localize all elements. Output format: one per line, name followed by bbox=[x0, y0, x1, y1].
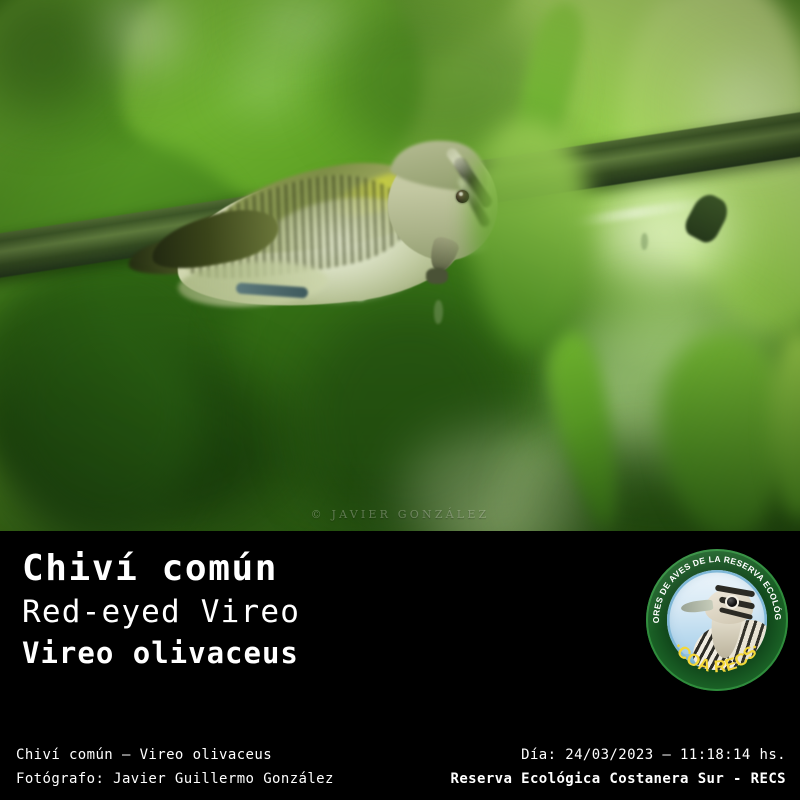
coa-recs-logo: CLUB DE OBSERVADORES DE AVES DE LA RESER… bbox=[646, 549, 788, 691]
footer-location-line: Reserva Ecológica Costanera Sur - RECS bbox=[451, 767, 787, 791]
footer-date-line: Día: 24/03/2023 — 11:18:14 hs. bbox=[451, 743, 787, 767]
bird-eye-glint bbox=[459, 192, 463, 196]
footer-right-block: Día: 24/03/2023 — 11:18:14 hs. Reserva E… bbox=[451, 743, 787, 791]
scientific-name-title: Vireo olivaceus bbox=[22, 633, 300, 673]
bird-foot bbox=[426, 268, 448, 284]
bird-id-card: © JAVIER GONZÁLEZ Chiví común Red-eyed V… bbox=[0, 0, 800, 800]
footer-species-line: Chiví común — Vireo olivaceus bbox=[16, 743, 334, 767]
footer-left-block: Chiví común — Vireo olivaceus Fotógrafo:… bbox=[16, 743, 334, 791]
species-titles: Chiví común Red-eyed Vireo Vireo olivace… bbox=[22, 547, 300, 673]
logo-ring-text: CLUB DE OBSERVADORES DE AVES DE LA RESER… bbox=[646, 549, 784, 623]
english-name-title: Red-eyed Vireo bbox=[22, 591, 300, 633]
common-name-title: Chiví común bbox=[22, 547, 300, 591]
foreground-leaf-bottom-left bbox=[0, 300, 200, 531]
photo-watermark: © JAVIER GONZÁLEZ bbox=[0, 508, 800, 521]
caption-panel: Chiví común Red-eyed Vireo Vireo olivace… bbox=[0, 531, 800, 800]
logo-acronym-text: ·COA RECS· bbox=[669, 638, 765, 676]
footer-photographer-line: Fotógrafo: Javier Guillermo González bbox=[16, 767, 334, 791]
logo-text-svg: CLUB DE OBSERVADORES DE AVES DE LA RESER… bbox=[646, 549, 788, 691]
bird-photograph: © JAVIER GONZÁLEZ bbox=[0, 0, 800, 531]
